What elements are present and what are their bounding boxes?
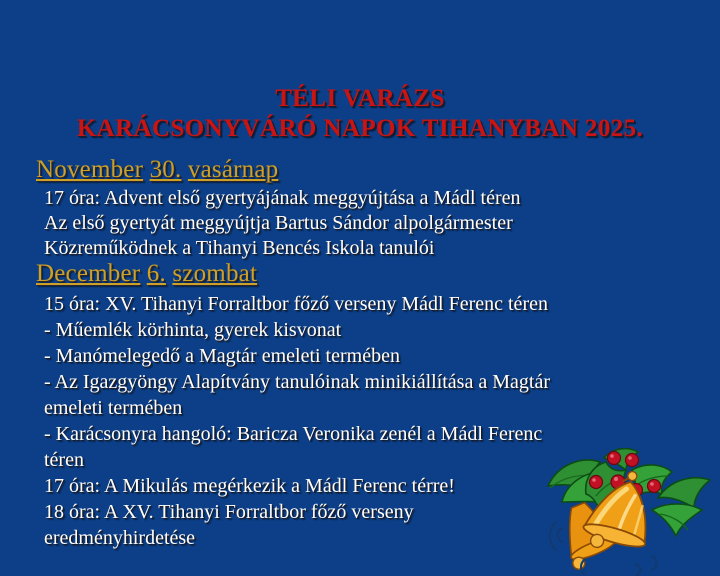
holly-leaves-group bbox=[548, 449, 710, 536]
event-line: 15 óra: XV. Tihanyi Forraltbor főző vers… bbox=[44, 292, 548, 317]
holly-berries-group bbox=[590, 452, 661, 497]
event-line: 17 óra: A Mikulás megérkezik a Mádl Fere… bbox=[44, 474, 455, 499]
christmas-bells-holly-decoration bbox=[540, 436, 720, 576]
slide-title: TÉLI VARÁZS KARÁCSONYVÁRÓ NAPOK TIHANYBA… bbox=[0, 84, 720, 144]
event-line: eredményhirdetése bbox=[44, 526, 195, 551]
event-line: 18 óra: A XV. Tihanyi Forraltbor főző ve… bbox=[44, 500, 414, 525]
event-line: - Karácsonyra hangoló: Baricza Veronika … bbox=[44, 422, 542, 447]
date-heading-month: November bbox=[36, 156, 143, 183]
date-heading-weekday: vasárnap bbox=[188, 156, 278, 183]
event-line: Az első gyertyát meggyújtja Bartus Sándo… bbox=[44, 211, 513, 236]
event-line: - Az Igazgyöngy Alapítvány tanulóinak mi… bbox=[44, 370, 550, 395]
date-heading-month: December bbox=[36, 260, 140, 287]
event-line: - Műemlék körhinta, gyerek kisvonat bbox=[44, 318, 341, 343]
bell-back bbox=[553, 497, 621, 571]
date-heading-day: 30. bbox=[150, 156, 182, 183]
title-line-1: TÉLI VARÁZS bbox=[0, 84, 720, 114]
bell-front bbox=[579, 463, 663, 560]
title-line-2: KARÁCSONYVÁRÓ NAPOK TIHANYBAN 2025. bbox=[0, 114, 720, 144]
date-heading-december: December 6. szombat bbox=[36, 260, 257, 288]
event-line: Közreműködnek a Tihanyi Bencés Iskola ta… bbox=[44, 236, 435, 261]
date-heading-november: November 30. vasárnap bbox=[36, 156, 278, 184]
bells-holly-icon bbox=[540, 436, 720, 576]
event-line: 17 óra: Advent első gyertyájának meggyúj… bbox=[44, 186, 521, 211]
event-line: - Manómelegedő a Magtár emeleti termében bbox=[44, 344, 400, 369]
date-heading-weekday: szombat bbox=[172, 260, 257, 287]
presentation-slide: TÉLI VARÁZS KARÁCSONYVÁRÓ NAPOK TIHANYBA… bbox=[0, 0, 720, 576]
event-line: téren bbox=[44, 448, 84, 473]
motion-lines bbox=[550, 522, 657, 576]
date-heading-day: 6. bbox=[147, 260, 166, 287]
event-line: emeleti termében bbox=[44, 396, 182, 421]
